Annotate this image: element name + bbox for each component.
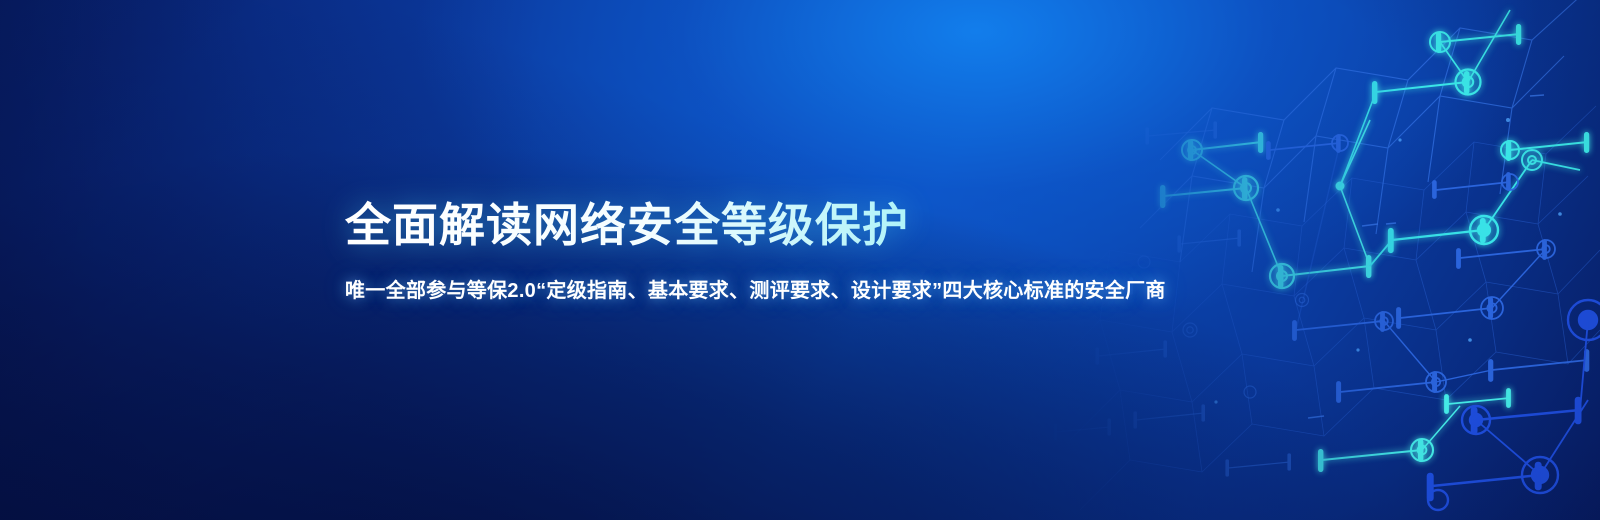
background-vignette [0,0,1600,520]
hero-banner: 全面解读网络安全等级保护 唯一全部参与等保2.0“定级指南、基本要求、测评要求、… [0,0,1600,520]
